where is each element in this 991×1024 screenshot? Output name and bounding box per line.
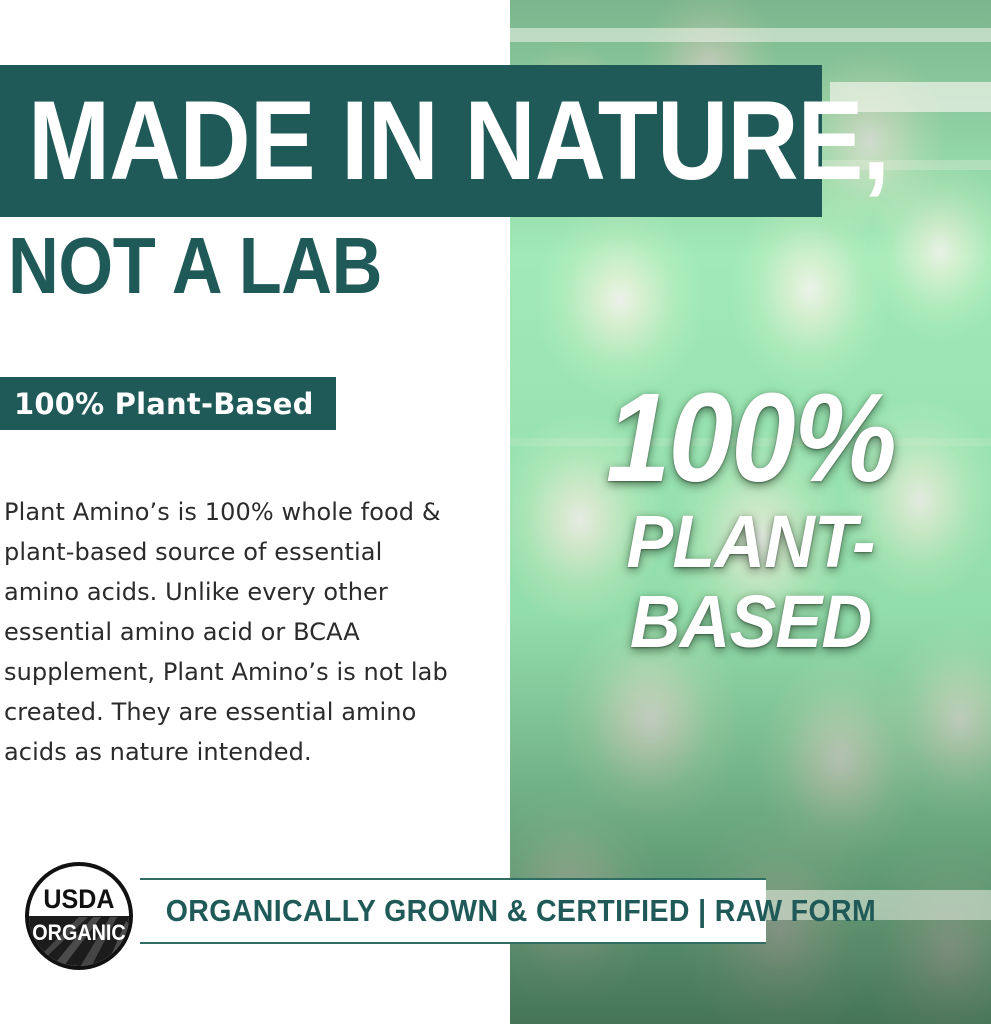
body-paragraph: Plant Amino’s is 100% whole food & plant… [4, 492, 456, 772]
certification-banner-text: ORGANICALLY GROWN & CERTIFIED | RAW FORM [140, 893, 876, 929]
usda-seal-top-text: USDA [43, 883, 114, 914]
usda-organic-seal: USDA ORGANIC [18, 855, 140, 977]
headline-line-1: MADE IN NATURE, [28, 76, 750, 206]
usda-seal-bottom-text: ORGANIC [32, 921, 125, 945]
certification-banner: ORGANICALLY GROWN & CERTIFIED | RAW FORM [140, 878, 766, 944]
photo-light-band [510, 28, 991, 42]
photo-light-band [510, 438, 991, 446]
plant-based-badge: 100% Plant-Based [0, 377, 336, 430]
headline-line-2: NOT A LAB [8, 222, 624, 310]
promo-image: MADE IN NATURE, NOT A LAB 100% Plant-Bas… [0, 0, 991, 1024]
